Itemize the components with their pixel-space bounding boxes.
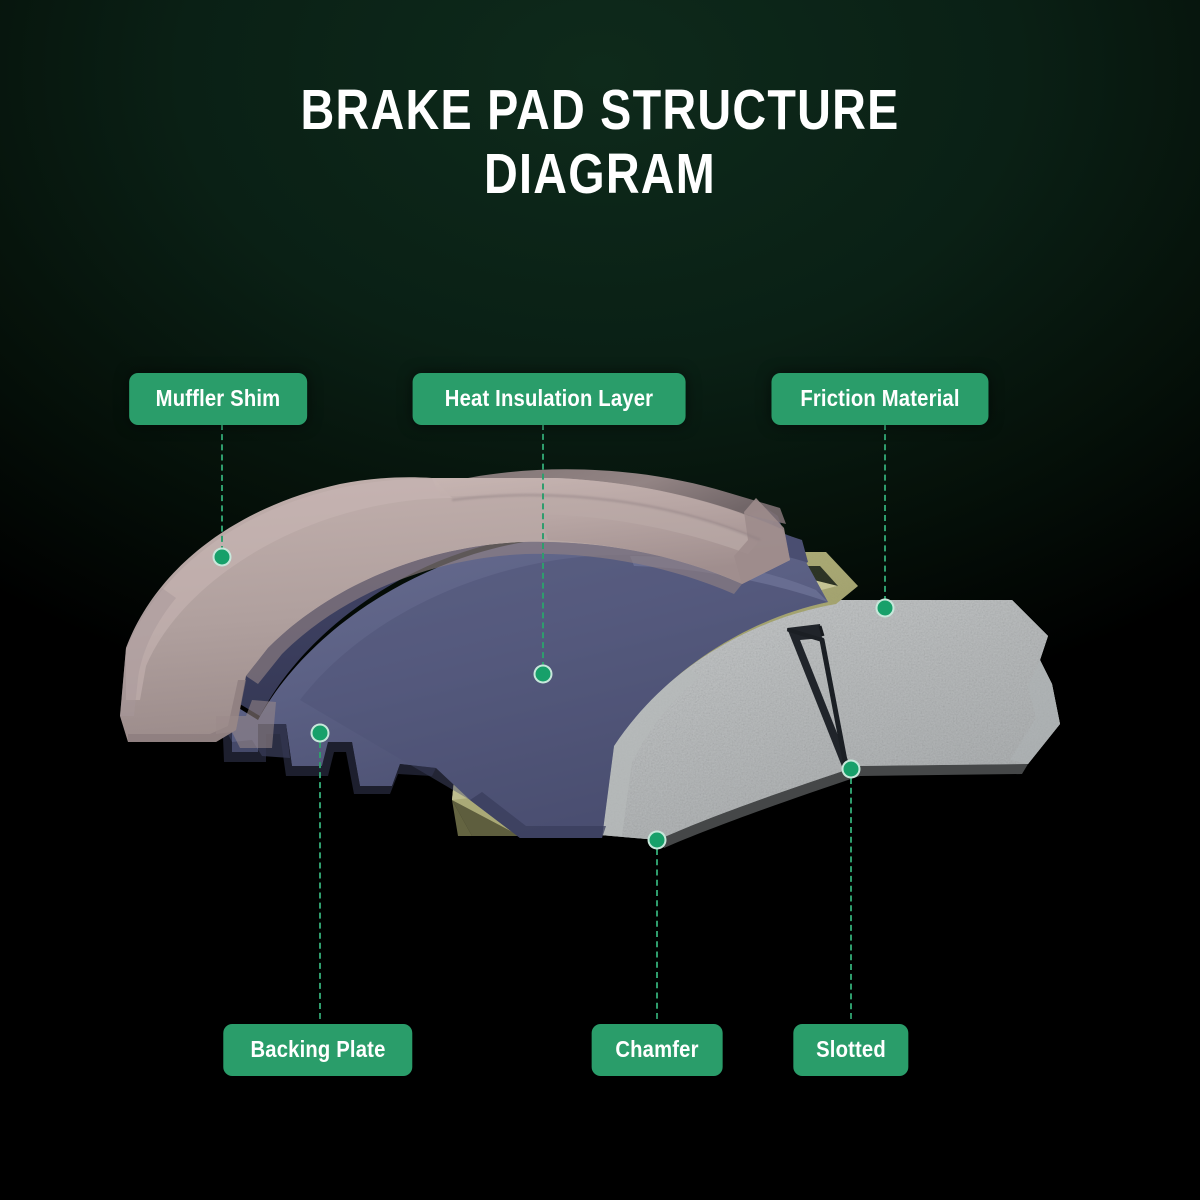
title-line-1: BRAKE PAD STRUCTURE [108,78,1092,142]
label-slotted[interactable]: Slotted [793,1024,908,1076]
label-backing-plate-text: Backing Plate [250,1038,385,1061]
callout-dot-backing-plate [311,724,330,743]
label-chamfer-text: Chamfer [615,1038,698,1061]
diagram-canvas: BRAKE PAD STRUCTURE DIAGRAM [0,0,1200,1200]
label-chamfer[interactable]: Chamfer [592,1024,723,1076]
label-friction-material[interactable]: Friction Material [771,373,988,425]
callout-dot-heat-insulation-layer [534,665,553,684]
connector-chamfer [656,849,658,1019]
connector-backing-plate [319,742,321,1019]
label-muffler-shim[interactable]: Muffler Shim [129,373,307,425]
title-line-2: DIAGRAM [108,142,1092,206]
connector-heat-insulation-layer [542,424,544,668]
label-heat-insulation-layer-text: Heat Insulation Layer [445,387,653,410]
callout-dot-slotted [842,760,861,779]
label-friction-material-text: Friction Material [800,387,959,410]
page-title: BRAKE PAD STRUCTURE DIAGRAM [0,78,1200,206]
callout-dot-muffler-shim [213,548,232,567]
connector-muffler-shim [221,424,223,552]
callout-dot-friction-material [876,599,895,618]
connector-friction-material [884,424,886,602]
label-backing-plate[interactable]: Backing Plate [223,1024,412,1076]
label-slotted-text: Slotted [816,1038,886,1061]
callout-dot-chamfer [648,831,667,850]
label-muffler-shim-text: Muffler Shim [156,387,281,410]
connector-slotted [850,778,852,1019]
label-heat-insulation-layer[interactable]: Heat Insulation Layer [413,373,686,425]
